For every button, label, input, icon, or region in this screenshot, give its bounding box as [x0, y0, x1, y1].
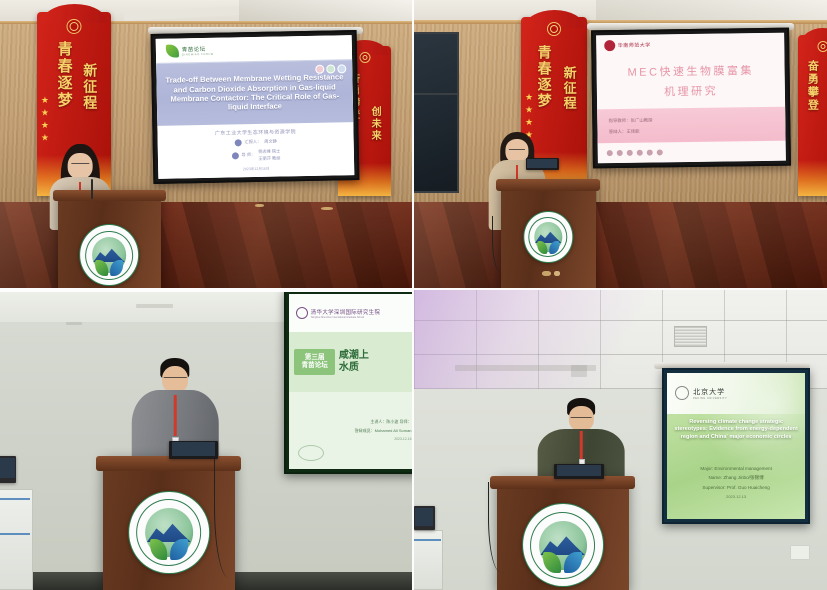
slide4-logo-sub: PEKING UNIVERSITY — [693, 397, 727, 400]
teacher-icon — [232, 152, 239, 159]
slide2-meta-presenter: 答辩人：王佳能 — [608, 126, 785, 134]
person-icon — [235, 139, 242, 146]
slide4-logo-text: 北京大学 — [693, 387, 727, 397]
slide4-supervisor: Supervisor: Prof. Guo Huaicheng — [702, 485, 769, 490]
university-seal-icon — [296, 307, 308, 319]
projection-screen: 北京大学 PEKING UNIVERSITY Reversing climate… — [667, 373, 806, 519]
auditorium-room: 青春逐梦 新征程 ★ ★ ★ ★ 奋勇攀登 创未来 华南 — [414, 0, 827, 288]
slide3-logo-sub: Tsinghua Shenzhen International Graduate… — [311, 316, 381, 319]
slide1-advisor-label: 导 师： — [242, 152, 256, 158]
glasses-icon — [571, 417, 592, 418]
head — [569, 406, 593, 430]
slide1-date: 2023年12月16日 — [243, 166, 270, 172]
laptop — [526, 158, 559, 170]
footer-icon — [637, 149, 643, 155]
projection-screen: 清华大学深圳国际研究生院 Tsinghua Shenzhen Internati… — [289, 294, 412, 469]
slide3-committee-line: 答辩成员：Mohamed Ali Soman — [355, 428, 412, 434]
podium-emblem — [522, 503, 604, 587]
cable — [488, 482, 509, 572]
banner-seal-icon — [359, 52, 370, 63]
cabinet-stripe — [414, 539, 441, 541]
equipment-bag — [414, 506, 435, 530]
slide2-pink-band: 指导教师：张广山教授 答辩人：王佳能 — [597, 107, 786, 143]
panel-bottom-right: 北京大学 PEKING UNIVERSITY Reversing climate… — [414, 290, 827, 590]
slide3-topic: 咸潮上 水质 — [339, 350, 369, 374]
slide3-presenter-line: 主讲人：陈小波 导师： — [370, 419, 411, 425]
leaf-logo-icon — [166, 44, 179, 57]
slide1-logo-text: 青苗论坛 — [182, 44, 214, 53]
slide3-middle-band: 第三届 青苗论坛 咸潮上 水质 — [289, 332, 412, 391]
banner-seal-icon — [817, 41, 827, 52]
stage-debris — [542, 271, 551, 276]
head — [68, 153, 93, 179]
ceiling-vent — [674, 326, 707, 347]
cable — [492, 216, 509, 274]
panel-top-left: 青春逐梦 新征程 ★ ★ ★ ★ 奋勇攀登 创未来 — [0, 0, 412, 288]
wall-scuff — [66, 322, 82, 325]
slide2-meta-advisor: 指导教师：张广山教授 — [608, 115, 785, 123]
banner-stars: ★ ★ ★ ★ — [39, 96, 53, 144]
projection-screen-frame: 青苗论坛 QINGMIAO FORUM Trade-off Between Me… — [151, 30, 360, 184]
slide2-logo-text: 华南师范大学 — [617, 41, 650, 48]
slide-mec: 华南师范大学 MEC快速生物膜富集 机理研究 指导教师：张广山教授 答辩人：王佳… — [596, 32, 786, 163]
slide1-badges — [316, 64, 347, 74]
lanyard — [580, 431, 583, 460]
projection-screen: 华南师范大学 MEC快速生物膜富集 机理研究 指导教师：张广山教授 答辩人：王佳… — [596, 32, 786, 163]
auditorium-room: 青春逐梦 新征程 ★ ★ ★ ★ 奋勇攀登 创未来 — [0, 0, 412, 288]
cabinet-stripe — [0, 533, 30, 535]
banner-left-text: 青春逐梦 — [55, 41, 72, 109]
projection-screen-frame: 华南师范大学 MEC快速生物膜富集 机理研究 指导教师：张广山教授 答辩人：王佳… — [591, 27, 791, 168]
banner-left-text: 青春逐梦 — [536, 45, 552, 109]
university-seal-icon — [603, 40, 614, 51]
laptop — [169, 441, 218, 459]
slide4-name: Name: Zhang Jinbo/张锦博 — [709, 475, 764, 481]
banner-right-text-2: 创未来 — [369, 106, 380, 142]
university-seal-icon — [675, 386, 689, 400]
stage-debris — [554, 271, 560, 276]
glasses-icon — [72, 163, 89, 164]
slide1-institution: 广东工业大学生态环境与资源学院 — [215, 128, 296, 137]
footer-icon — [657, 149, 663, 155]
banner-left-text-2: 新征程 — [82, 63, 98, 111]
banner-seal-icon — [67, 19, 82, 34]
slide4-date: 2023.12.13 — [726, 494, 746, 499]
slide3-chip-line1: 第三届 — [301, 354, 327, 362]
wall-scuff — [136, 304, 173, 308]
slide1-advisor-name: 杨志峰 院士 — [259, 148, 281, 154]
slide1-title-band: Trade-off Between Membrane Wetting Resis… — [157, 60, 354, 125]
slide4-major: Major: Environmental management — [700, 466, 772, 471]
slide3-topic-line2: 水质 — [339, 362, 369, 374]
glasses-icon — [164, 377, 186, 378]
window — [414, 32, 459, 193]
classroom-room: 清华大学深圳国际研究生院 Tsinghua Shenzhen Internati… — [0, 292, 412, 590]
side-cabinet — [0, 489, 33, 590]
slide3-logo-text: 清华大学深圳国际研究生院 — [311, 308, 381, 316]
slide-tsinghua: 清华大学深圳国际研究生院 Tsinghua Shenzhen Internati… — [289, 294, 412, 469]
slide3-forum-chip: 第三届 青苗论坛 — [294, 349, 334, 375]
window-mullion — [414, 93, 457, 95]
podium-top — [53, 190, 166, 201]
wall-socket — [790, 545, 811, 560]
watermark-icon — [298, 445, 324, 461]
slide3-date: 2023-12-16 — [394, 437, 411, 441]
slide4-title: Reversing climate change strategic stere… — [667, 414, 806, 446]
footer-icon — [617, 150, 623, 156]
slide-pku-climate: 北京大学 PEKING UNIVERSITY Reversing climate… — [667, 373, 806, 519]
org-badge-icon — [327, 64, 336, 73]
panel-bottom-left: 清华大学深圳国际研究生院 Tsinghua Shenzhen Internati… — [0, 292, 412, 590]
lanyard — [174, 395, 177, 436]
wall-scuff — [571, 365, 588, 377]
slide2-title-line2: 机理研究 — [663, 83, 717, 100]
auditorium-floor — [414, 202, 827, 288]
microphone — [91, 179, 93, 199]
projection-screen-frame: 清华大学深圳国际研究生院 Tsinghua Shenzhen Internati… — [284, 292, 412, 474]
slide1-presenter-name: 周文静 — [265, 138, 278, 144]
cabinet-stripe — [0, 498, 30, 500]
footer-icon — [647, 149, 653, 155]
slide1-advisor-row: 导 师： 杨志峰 院士 王丽莎 教授 — [232, 148, 281, 162]
slide1-presenter-row: 汇报人： 周文静 — [235, 138, 277, 146]
podium-emblem — [128, 491, 210, 575]
slide2-header: 华南师范大学 — [596, 32, 785, 55]
classroom-room: 北京大学 PEKING UNIVERSITY Reversing climate… — [414, 290, 827, 590]
banner-seal-icon — [547, 22, 561, 36]
slide3-chip-line2: 青苗论坛 — [301, 362, 327, 370]
slide-trade-off: 青苗论坛 QINGMIAO FORUM Trade-off Between Me… — [156, 35, 355, 178]
podium — [58, 190, 161, 288]
glasses-icon — [509, 149, 525, 150]
org-badge-icon — [338, 64, 347, 73]
podium — [497, 476, 629, 590]
projection-screen: 青苗论坛 QINGMIAO FORUM Trade-off Between Me… — [156, 35, 355, 178]
banner-base-graphic — [798, 160, 827, 195]
projection-screen-frame: 北京大学 PEKING UNIVERSITY Reversing climate… — [662, 368, 811, 524]
podium-top — [496, 179, 600, 191]
slide3-topic-line1: 咸潮上 — [339, 350, 369, 362]
slide2-title-wrap: MEC快速生物膜富集 机理研究 — [596, 53, 785, 109]
slide4-header: 北京大学 PEKING UNIVERSITY — [667, 373, 806, 414]
slide1-title: Trade-off Between Membrane Wetting Resis… — [157, 72, 354, 113]
podium-emblem — [524, 211, 573, 262]
slide1-body: 广东工业大学生态环境与资源学院 汇报人： 周文静 导 师： 杨志峰 院士 — [158, 121, 355, 178]
org-badge-icon — [316, 64, 325, 73]
slide2-footer-icons — [597, 140, 786, 163]
footer-icon — [627, 150, 633, 156]
banner-right-text: 奋勇攀登 — [806, 60, 818, 112]
equipment-bag — [0, 456, 16, 483]
footer-icon — [607, 150, 613, 156]
slide1-presenter-label: 汇报人： — [245, 139, 262, 145]
slide1-logo-sub: QINGMIAO FORUM — [182, 52, 214, 56]
red-banner-right: 奋勇攀登 创未来 — [798, 35, 827, 196]
slide1-advisor-name-2: 王丽莎 教授 — [259, 155, 281, 161]
side-cabinet — [414, 530, 443, 590]
podium-emblem — [79, 224, 139, 286]
slide4-meta: Major: Environmental management Name: Zh… — [667, 446, 806, 519]
panel-top-right: 青春逐梦 新征程 ★ ★ ★ ★ 奋勇攀登 创未来 华南 — [414, 0, 827, 288]
slide3-lower-band: 主讲人：陈小波 导师： 答辩成员：Mohamed Ali Soman 2023-… — [289, 392, 412, 469]
head — [162, 366, 188, 393]
banner-left-text-2: 新征程 — [561, 66, 576, 111]
laptop — [554, 464, 604, 479]
photo-collage: 青春逐梦 新征程 ★ ★ ★ ★ 奋勇攀登 创未来 — [0, 0, 827, 590]
slide1-header: 青苗论坛 QINGMIAO FORUM — [156, 35, 352, 64]
slide3-header: 清华大学深圳国际研究生院 Tsinghua Shenzhen Internati… — [289, 294, 412, 332]
slide2-title-line1: MEC快速生物膜富集 — [627, 62, 754, 80]
